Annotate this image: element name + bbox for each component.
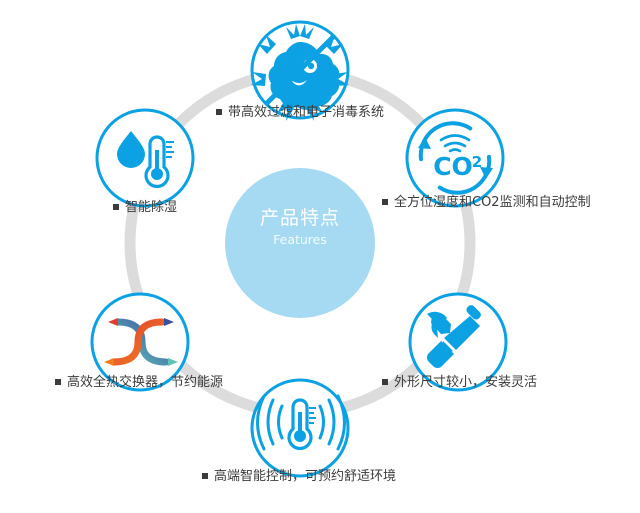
bullet-marker (113, 204, 119, 210)
co2-icon-superscript: 2 (472, 153, 482, 171)
diagram-canvas: CO 2 (0, 0, 640, 513)
bullet-marker (55, 379, 61, 385)
node-label-bottom: 高端智能控制，可预约舒适环境 (202, 468, 396, 486)
node-upper-left[interactable] (97, 110, 193, 206)
co2-icon-text: CO (433, 152, 473, 181)
bullet-marker (216, 109, 222, 115)
node-upper-left-circle (97, 110, 193, 206)
node-label-upper-left: 智能除湿 (113, 199, 177, 217)
node-label-lower-right: 外形尺寸较小，安装灵活 (382, 374, 537, 392)
node-label-bottom-text: 高端智能控制，可预约舒适环境 (214, 469, 396, 484)
node-label-lower-left-text: 高效全热交换器，节约能源 (67, 375, 223, 390)
node-label-lower-left: 高效全热交换器，节约能源 (55, 374, 223, 392)
hub-circle (225, 168, 375, 318)
features-infographic: CO 2 (0, 0, 640, 513)
node-label-upper-right-text: 全方位湿度和CO2监测和自动控制 (394, 195, 591, 210)
node-label-lower-right-text: 外形尺寸较小，安装灵活 (394, 375, 537, 390)
node-label-top-text: 带高效过滤和电子消毒系统 (228, 105, 384, 120)
node-label-upper-right: 全方位湿度和CO2监测和自动控制 (382, 194, 591, 212)
node-bottom[interactable] (252, 380, 348, 476)
node-label-top: 带高效过滤和电子消毒系统 (216, 104, 384, 122)
node-label-upper-left-text: 智能除湿 (125, 200, 177, 215)
bullet-marker (382, 379, 388, 385)
bullet-marker (202, 473, 208, 479)
bullet-marker (382, 199, 388, 205)
node-upper-right[interactable]: CO 2 (407, 110, 503, 206)
